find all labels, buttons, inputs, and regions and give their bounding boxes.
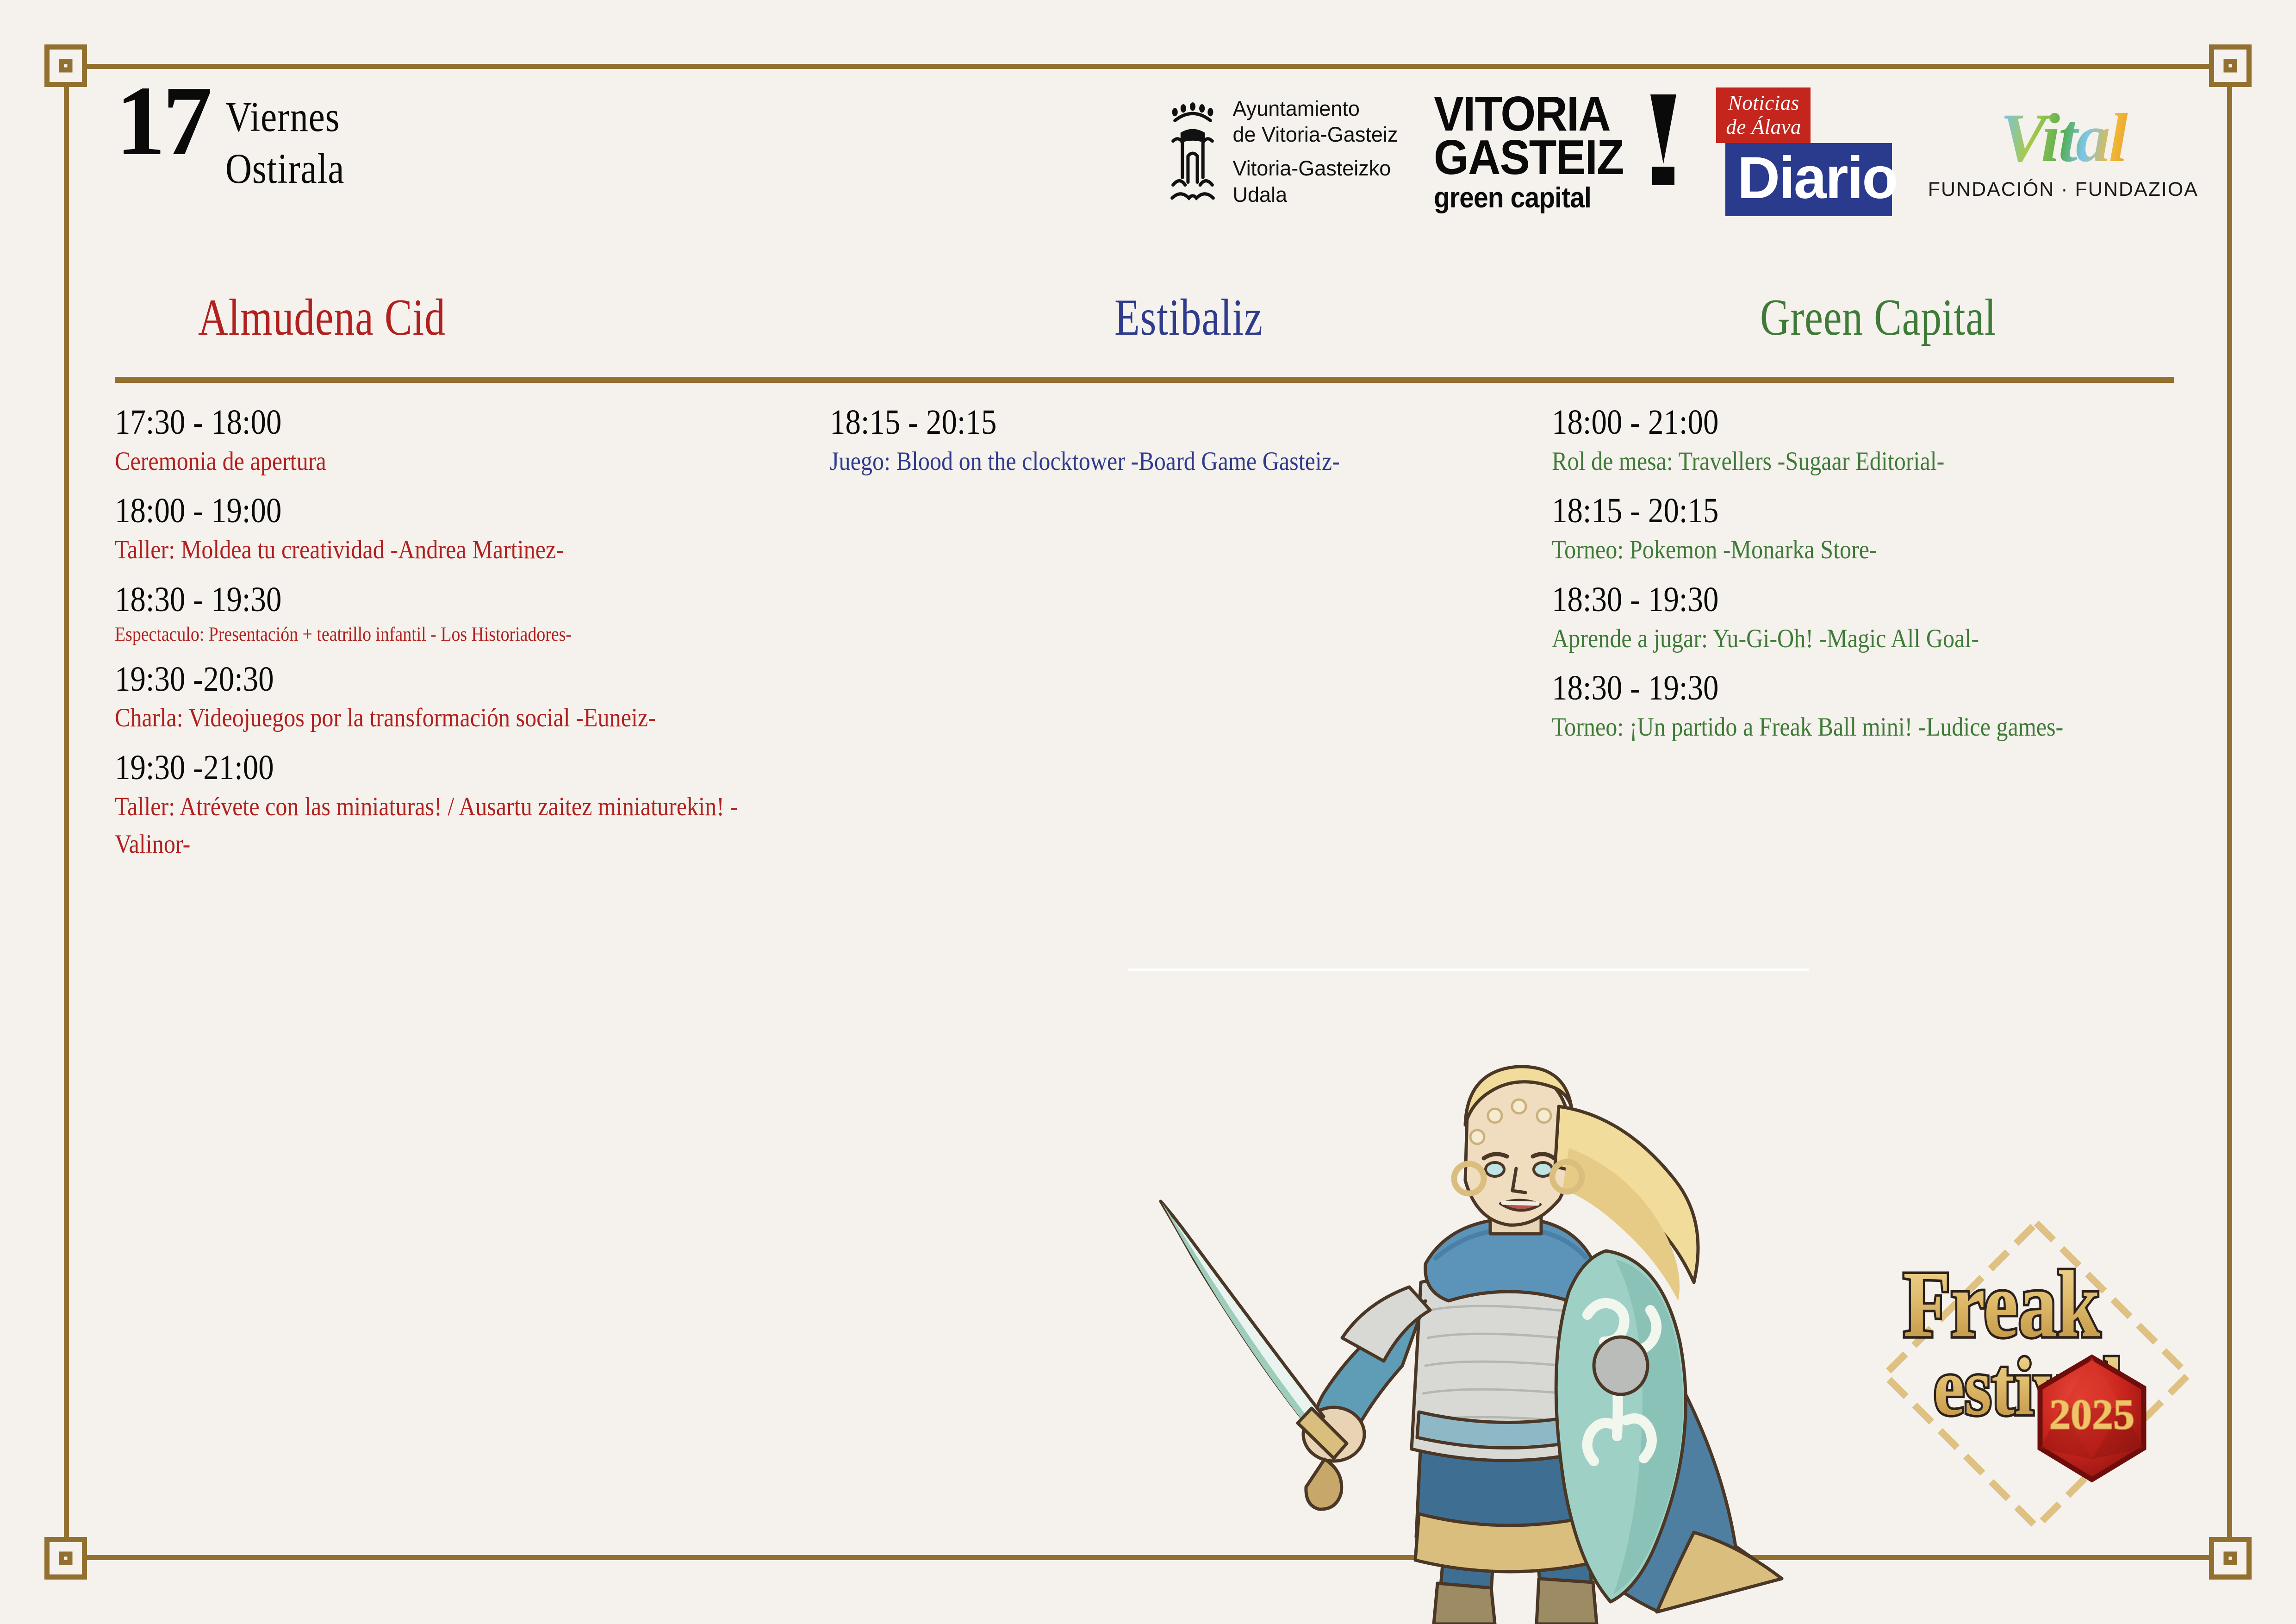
diario-wordmark: Diario bbox=[1725, 143, 1892, 216]
ayuntamiento-wordmark: Ayuntamiento de Vitoria-Gasteiz Vitoria-… bbox=[1233, 96, 1398, 208]
shield-boss bbox=[1594, 1337, 1648, 1394]
entry-time: 18:30 - 19:30 bbox=[115, 581, 717, 618]
entry-description: Torneo: ¡Un partido a Freak Ball mini! -… bbox=[1552, 709, 2192, 746]
sponsor-logos: Ayuntamiento de Vitoria-Gasteiz Vitoria-… bbox=[1164, 82, 2198, 221]
date-block: 17 Viernes Ostirala bbox=[116, 79, 364, 194]
die-year-label: 2025 bbox=[2049, 1391, 2134, 1438]
schedule-entry: 18:15 - 20:15 Juego: Blood on the clockt… bbox=[830, 404, 1487, 480]
date-number: 17 bbox=[116, 79, 210, 163]
ayuntamiento-line-1: Ayuntamiento bbox=[1233, 96, 1398, 122]
boot-left bbox=[1434, 1583, 1495, 1624]
entry-time: 18:15 - 20:15 bbox=[830, 404, 1408, 441]
frame-corner-bottom-left bbox=[44, 1537, 87, 1580]
vg-line-gasteiz: GASTEIZ bbox=[1434, 136, 1624, 179]
column-title-green-capital: Green Capital bbox=[1760, 292, 1996, 344]
vg-line-green-capital: green capital bbox=[1434, 186, 1624, 211]
fundacion-vital-logo: Vital FUNDACIÓN · FUNDAZIOA bbox=[1928, 103, 2198, 201]
diario-noticias-de-alava-logo: Noticias de Álava Diario bbox=[1716, 87, 1892, 216]
entry-description: Ceremonia de apertura bbox=[115, 443, 802, 481]
vital-subtitle: FUNDACIÓN · FUNDAZIOA bbox=[1928, 178, 2198, 201]
freak-wordmark: Freak bbox=[1903, 1252, 2100, 1357]
entry-description: Torneo: Pokemon -Monarka Store- bbox=[1552, 531, 2192, 569]
entry-description: Rol de mesa: Travellers -Sugaar Editoria… bbox=[1552, 443, 2192, 481]
vitoria-gasteiz-green-capital-logo: VITORIA GASTEIZ green capital bbox=[1434, 93, 1680, 211]
schedule-entry: 18:30 - 19:30 Espectaculo: Presentación … bbox=[115, 581, 800, 649]
schedule-entry: 19:30 -21:00 Taller: Atrévete con las mi… bbox=[115, 749, 800, 863]
schedule-entry: 18:15 - 20:15 Torneo: Pokemon -Monarka S… bbox=[1552, 492, 2190, 568]
date-weekday-names: Viernes Ostirala bbox=[225, 91, 364, 194]
entry-description: Aprende a jugar: Yu-Gi-Oh! -Magic All Go… bbox=[1552, 620, 2192, 658]
ayuntamiento-crest-icon bbox=[1164, 98, 1221, 206]
poster-header: 17 Viernes Ostirala bbox=[102, 79, 2198, 245]
column-title-almudena-cid: Almudena Cid bbox=[198, 292, 446, 344]
stage-column-headers: Almudena Cid Estibaliz Green Capital bbox=[115, 292, 2174, 378]
schedule-entry: 18:30 - 19:30 Torneo: ¡Un partido a Frea… bbox=[1552, 669, 2190, 746]
entry-time: 18:00 - 21:00 bbox=[1552, 404, 2114, 441]
schedule-entry: 17:30 - 18:00 Ceremonia de apertura bbox=[115, 404, 800, 480]
entry-time: 18:15 - 20:15 bbox=[1552, 492, 2114, 530]
schedule-entry: 18:00 - 19:00 Taller: Moldea tu creativi… bbox=[115, 492, 800, 568]
weekday-basque: Ostirala bbox=[225, 143, 344, 194]
schedule-column-estibaliz: 18:15 - 20:15 Juego: Blood on the clockt… bbox=[830, 404, 1487, 492]
weekday-spanish: Viernes bbox=[225, 91, 344, 143]
frame-corner-bottom-right bbox=[2209, 1537, 2252, 1580]
entry-description: Taller: Atrévete con las miniaturas! / A… bbox=[115, 788, 802, 863]
ayuntamiento-logo: Ayuntamiento de Vitoria-Gasteiz Vitoria-… bbox=[1164, 96, 1398, 208]
vg-line-vitoria: VITORIA bbox=[1434, 93, 1624, 136]
column-title-estibaliz: Estibaliz bbox=[1114, 292, 1263, 344]
entry-time: 19:30 -21:00 bbox=[115, 749, 717, 787]
schedule-column-green-capital: 18:00 - 21:00 Rol de mesa: Travellers -S… bbox=[1552, 404, 2190, 758]
schedule-entry: 18:00 - 21:00 Rol de mesa: Travellers -S… bbox=[1552, 404, 2190, 480]
entry-time: 18:00 - 19:00 bbox=[115, 492, 717, 530]
ayuntamiento-line-2: de Vitoria-Gasteiz bbox=[1233, 122, 1398, 148]
boot-right bbox=[1537, 1579, 1597, 1624]
sword-blade bbox=[1161, 1201, 1324, 1430]
frame-corner-top-left bbox=[44, 44, 87, 87]
ayuntamiento-line-4: Udala bbox=[1233, 182, 1398, 208]
ayuntamiento-spacer bbox=[1233, 148, 1398, 156]
schedule-entry: 19:30 -20:30 Charla: Videojuegos por la … bbox=[115, 661, 800, 737]
entry-time: 18:30 - 19:30 bbox=[1552, 581, 2114, 618]
sword-pommel bbox=[1306, 1459, 1342, 1509]
entry-description: Charla: Videojuegos por la transformació… bbox=[115, 700, 802, 737]
faint-divider-line bbox=[1128, 968, 1809, 971]
entry-time: 19:30 -20:30 bbox=[115, 661, 717, 698]
entry-description: Juego: Blood on the clocktower -Board Ga… bbox=[830, 443, 1489, 481]
header-divider-rule bbox=[115, 377, 2174, 383]
entry-time: 18:30 - 19:30 bbox=[1552, 669, 2114, 707]
schedule-entry: 18:30 - 19:30 Aprende a jugar: Yu-Gi-Oh!… bbox=[1552, 581, 2190, 657]
exclamation-mark-icon bbox=[1650, 94, 1676, 185]
schedule-column-almudena-cid: 17:30 - 18:00 Ceremonia de apertura 18:0… bbox=[115, 404, 800, 875]
entry-description: Taller: Moldea tu creatividad -Andrea Ma… bbox=[115, 531, 802, 569]
diario-banner-text: Noticias de Álava bbox=[1716, 87, 1811, 143]
warrior-illustration bbox=[1125, 1042, 1819, 1624]
ayuntamiento-line-3: Vitoria-Gasteizko bbox=[1233, 156, 1398, 182]
entry-time: 17:30 - 18:00 bbox=[115, 404, 717, 441]
freak-festival-logo: Freak estival 2025 bbox=[1874, 1218, 2198, 1537]
entry-description: Espectaculo: Presentación + teatrillo in… bbox=[115, 620, 802, 649]
frame-corner-top-right bbox=[2209, 44, 2252, 87]
vital-wordmark: Vital bbox=[1928, 103, 2198, 173]
